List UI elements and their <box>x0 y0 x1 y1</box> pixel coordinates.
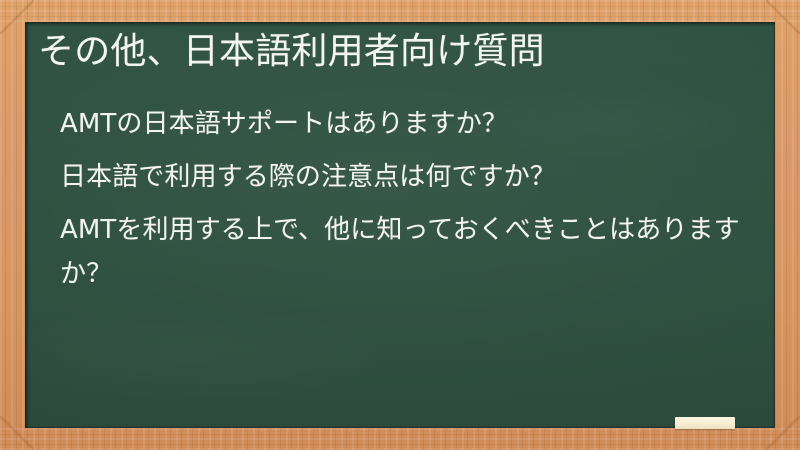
question-item: AMTを利用する上で、他に知っておくべきことはありますか？ <box>60 208 750 296</box>
frame-rail-bottom <box>0 428 800 450</box>
slide-title: その他、日本語利用者向け質問 <box>38 30 754 74</box>
question-item: AMTの日本語サポートはありますか？ <box>60 102 750 146</box>
chalkboard-surface: その他、日本語利用者向け質問 AMTの日本語サポートはありますか？ 日本語で利用… <box>25 22 775 428</box>
chalkboard-slide: その他、日本語利用者向け質問 AMTの日本語サポートはありますか？ 日本語で利用… <box>0 0 800 450</box>
question-item: 日本語で利用する際の注意点は何ですか？ <box>60 155 750 199</box>
chalk-stick <box>675 417 735 429</box>
frame-rail-top <box>0 0 800 22</box>
question-list: AMTの日本語サポートはありますか？ 日本語で利用する際の注意点は何ですか？ A… <box>60 102 750 296</box>
